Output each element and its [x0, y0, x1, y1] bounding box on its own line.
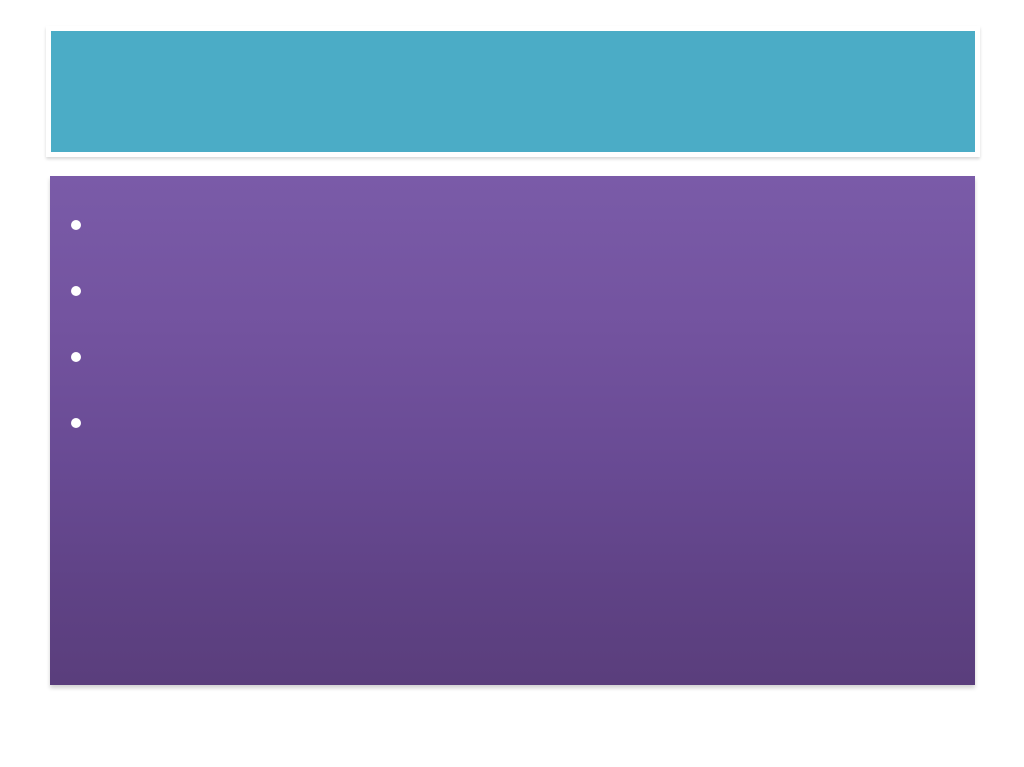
bullet-list: In English lesson ,you can learn a lot o… [60, 192, 965, 456]
title-placeholder-frame[interactable] [46, 26, 980, 157]
bullet-dot-icon [71, 286, 81, 296]
bullet-dot-icon [71, 352, 81, 362]
content-placeholder[interactable]: In English lesson ,you can learn a lot o… [50, 176, 975, 685]
list-item[interactable]: In English lesson ,you can learn a lot o… [60, 192, 965, 258]
list-item[interactable]: phrases, [60, 324, 965, 390]
list-item[interactable]: words, [60, 258, 965, 324]
bullet-dot-icon [71, 418, 81, 428]
list-item[interactable]: grammar and other interesting things [60, 390, 965, 456]
title-placeholder[interactable] [51, 31, 975, 152]
slide: In English lesson ,you can learn a lot o… [0, 0, 1024, 767]
bullet-dot-icon [71, 220, 81, 230]
